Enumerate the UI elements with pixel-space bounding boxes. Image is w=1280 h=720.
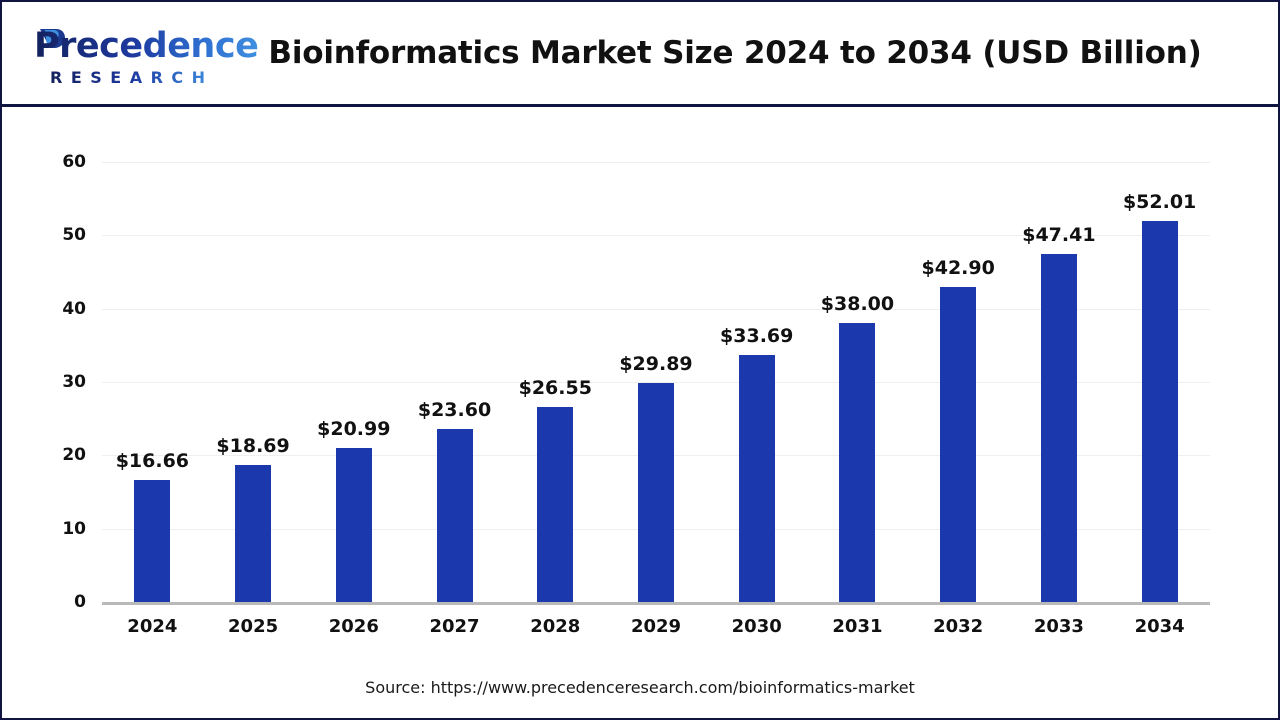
precedence-research-logo: Precedence RESEARCH: [16, 24, 226, 90]
y-axis-tick-label: 10: [26, 519, 86, 539]
bar-value-label: $23.60: [395, 399, 515, 421]
bar-value-label: $38.00: [797, 293, 917, 315]
page-title: Bioinformatics Market Size 2024 to 2034 …: [232, 2, 1238, 104]
bar[interactable]: [1041, 254, 1077, 602]
axis-baseline: [102, 602, 1210, 605]
bar-value-label: $20.99: [294, 418, 414, 440]
bar[interactable]: [940, 287, 976, 602]
source-caption: Source: https://www.precedenceresearch.c…: [2, 678, 1278, 697]
bar[interactable]: [739, 355, 775, 602]
y-axis-tick-label: 60: [26, 152, 86, 172]
y-axis-tick-label: 30: [26, 372, 86, 392]
bar-value-label: $33.69: [697, 325, 817, 347]
x-axis-tick-label: 2034: [1100, 616, 1220, 637]
logo-wordmark: Precedence: [34, 24, 258, 68]
y-axis-tick-label: 20: [26, 445, 86, 465]
y-axis-tick-label: 40: [26, 299, 86, 319]
y-axis-tick-label: 0: [26, 592, 86, 612]
bar[interactable]: [537, 407, 573, 602]
chart-image: Precedence RESEARCH Bioinformatics Marke…: [0, 0, 1280, 720]
bar[interactable]: [638, 383, 674, 602]
bar[interactable]: [235, 465, 271, 602]
bar[interactable]: [134, 480, 170, 602]
bar-value-label: $47.41: [999, 224, 1119, 246]
gridline: [102, 162, 1210, 163]
bar-value-label: $52.01: [1100, 191, 1220, 213]
header-bar: Precedence RESEARCH Bioinformatics Marke…: [2, 2, 1278, 107]
bar-value-label: $26.55: [495, 377, 615, 399]
logo-subtitle: RESEARCH: [50, 68, 214, 87]
bar-value-label: $42.90: [898, 257, 1018, 279]
bar[interactable]: [336, 448, 372, 602]
bar[interactable]: [839, 323, 875, 602]
bar-value-label: $29.89: [596, 353, 716, 375]
bar[interactable]: [437, 429, 473, 602]
y-axis-tick-label: 50: [26, 225, 86, 245]
bar[interactable]: [1142, 221, 1178, 602]
